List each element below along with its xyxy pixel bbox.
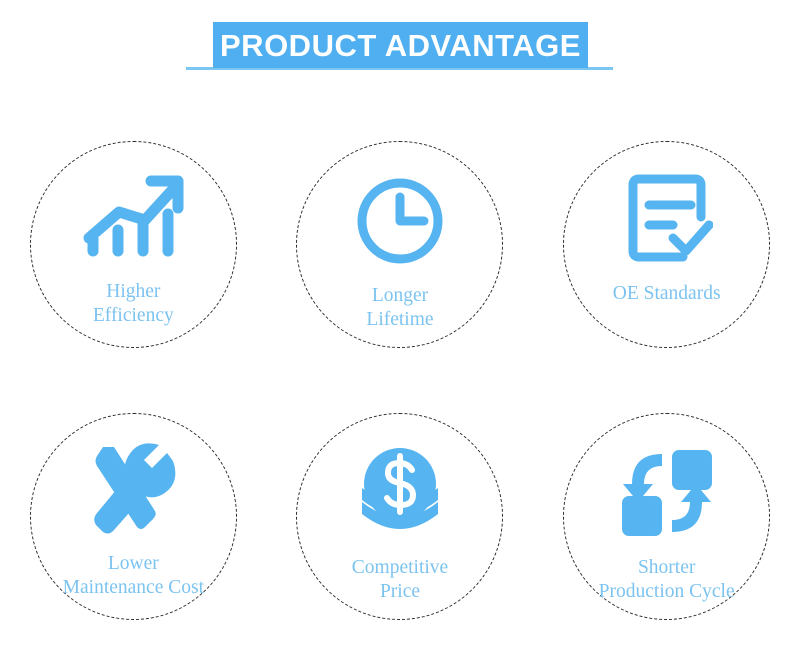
feature-label: OE Standards (609, 282, 725, 306)
coin-stack-dollar-icon (356, 434, 444, 552)
feature-cell-lower-maintenance-cost: Lower Maintenance Cost (0, 381, 267, 654)
feature-label: Longer Lifetime (362, 284, 437, 332)
feature-cell-higher-efficiency: Higher Efficiency (0, 108, 267, 381)
feature-cell-longer-lifetime: Longer Lifetime (267, 108, 534, 381)
feature-cell-shorter-production-cycle: Shorter Production Cycle (533, 381, 800, 654)
header-title-banner: PRODUCT ADVANTAGE (213, 22, 588, 68)
document-check-icon (621, 160, 713, 278)
clock-icon (354, 162, 446, 280)
feature-label: Lower Maintenance Cost (59, 552, 208, 600)
feature-label: Higher Efficiency (89, 280, 178, 328)
growth-chart-icon (81, 158, 185, 276)
feature-circle-longer-lifetime[interactable]: Longer Lifetime (296, 141, 503, 348)
page-title: PRODUCT ADVANTAGE (220, 30, 581, 61)
page-header: PRODUCT ADVANTAGE (0, 0, 800, 100)
feature-cell-competitive-price: Competitive Price (267, 381, 534, 654)
wrench-screwdriver-icon (83, 430, 183, 548)
feature-circle-shorter-production-cycle[interactable]: Shorter Production Cycle (563, 413, 770, 620)
feature-circle-competitive-price[interactable]: Competitive Price (296, 413, 503, 620)
feature-circle-higher-efficiency[interactable]: Higher Efficiency (30, 141, 237, 348)
feature-circle-lower-maintenance-cost[interactable]: Lower Maintenance Cost (30, 413, 237, 620)
feature-cell-oe-standards: OE Standards (533, 108, 800, 381)
feature-circle-oe-standards[interactable]: OE Standards (563, 141, 770, 348)
cycle-exchange-icon (618, 434, 716, 552)
feature-grid: Higher Efficiency Longer Lifetime (0, 108, 800, 653)
feature-label: Shorter Production Cycle (595, 556, 739, 604)
feature-label: Competitive Price (348, 556, 452, 604)
